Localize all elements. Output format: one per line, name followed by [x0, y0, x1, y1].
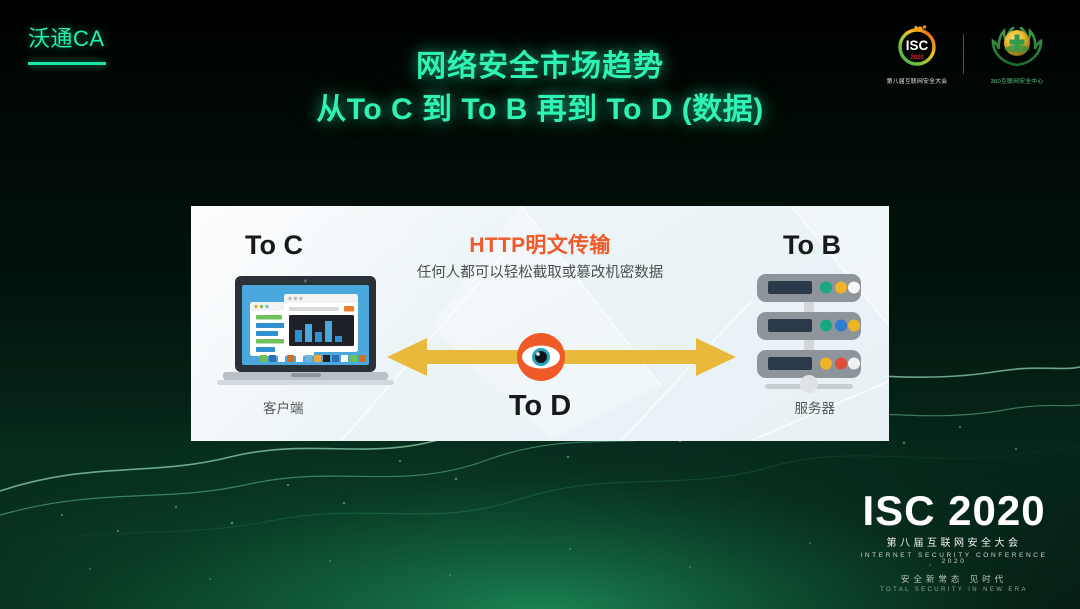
shield-cross-icon: [986, 22, 1048, 68]
qihoo-logo-header: 360互联网安全中心: [974, 22, 1060, 85]
brand-underline: [28, 62, 106, 65]
center-heading: HTTP明文传输: [191, 229, 889, 259]
slide-root: 沃通CA 网络安全市场趋势 从To C 到 To B 再到 To D (数据): [0, 0, 1080, 609]
isc-year-text: 2020: [910, 55, 924, 61]
title-line-2: 从To C 到 To B 再到 To D (数据): [0, 90, 1080, 129]
header-logo-group: ISC 2020 第八届互联网安全大会: [881, 22, 1060, 85]
bidirectional-arrow: [191, 324, 889, 395]
brand-name: 沃通CA: [28, 28, 106, 50]
footer-logo-cn-1: 第八届互联网安全大会: [850, 539, 1058, 549]
isc-ring-icon: ISC 2020: [889, 22, 945, 68]
footer-logo-en-1: INTERNET SECURITY CONFERENCE 2020: [850, 553, 1058, 566]
logo-separator: [963, 34, 964, 74]
eye-icon: [517, 333, 565, 381]
qihoo-logo-caption: 360互联网安全中心: [975, 76, 1059, 85]
isc-logo-footer: ISC 2020 第八届互联网安全大会 INTERNET SECURITY CO…: [850, 490, 1058, 594]
footer-logo-main: ISC 2020: [850, 490, 1058, 532]
footer-logo-cn-2: 安全新常态 见时代: [850, 575, 1058, 584]
brand-logo: 沃通CA: [28, 28, 106, 65]
isc-logo-caption: 第八届互联网安全大会: [882, 76, 953, 85]
center-body-text: 任何人都可以轻松截取或篡改机密数据: [390, 262, 690, 285]
isc-logo-header: ISC 2020 第八届互联网安全大会: [881, 22, 953, 85]
isc-mark-text: ISC: [906, 38, 929, 53]
diagram-panel: To C 客户端: [191, 206, 889, 441]
footer-logo-en-2: TOTAL SECURITY IN NEW ERA: [850, 587, 1058, 593]
